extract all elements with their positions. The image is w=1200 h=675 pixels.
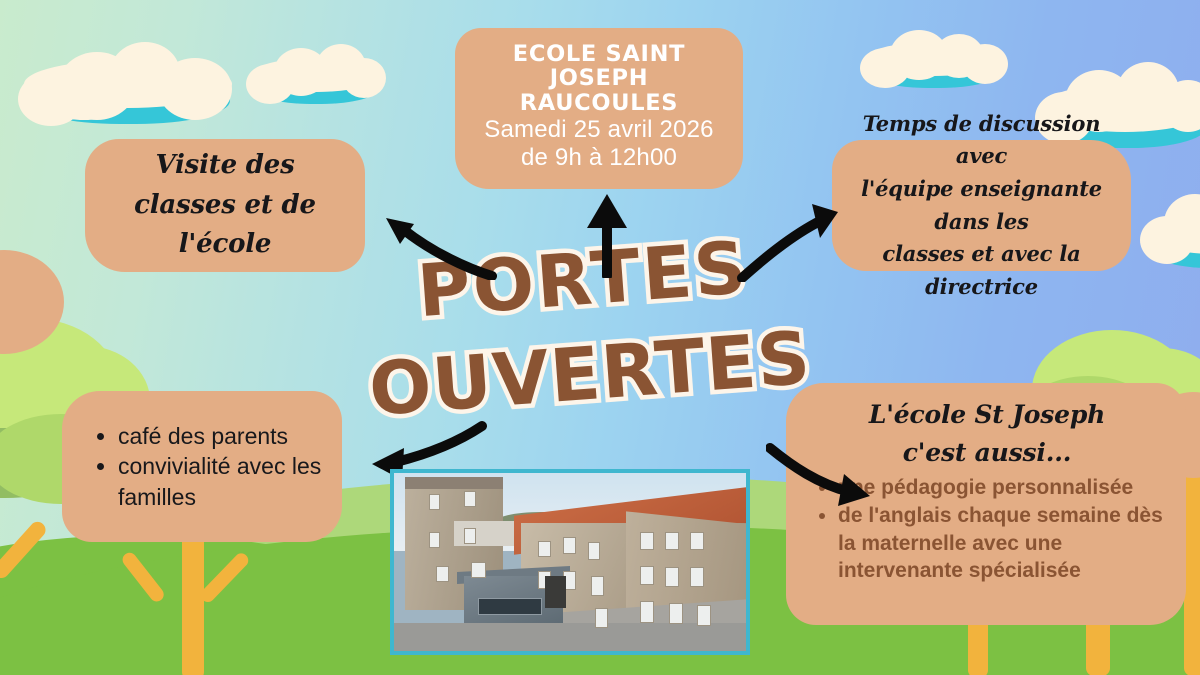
card-visite-des-classes: Visite des classes et de l'école <box>85 139 365 272</box>
event-date: Samedi 25 avril 2026 <box>484 117 713 143</box>
event-time: de 9h à 12h00 <box>521 145 677 171</box>
cloud-icon <box>1140 190 1200 268</box>
arrow-up-icon <box>575 190 639 278</box>
list-item: café des parents <box>118 421 328 452</box>
title-line-ouvertes: OUVERTES <box>353 321 827 427</box>
school-name-line1: ECOLE SAINT JOSEPH <box>465 42 733 91</box>
arrow-right-down-icon <box>766 440 876 512</box>
card-visite-line-3: l'école <box>134 225 316 265</box>
card-temps-line-1: Temps de discussion avec <box>842 108 1121 173</box>
card-plus-heading-line1: L'école St Joseph <box>802 397 1172 433</box>
card-cafe-parents: café des parents convivialité avec les f… <box>62 391 342 542</box>
card-visite-text: Visite des classes et de l'école <box>134 146 316 265</box>
card-temps-line-2: l'équipe enseignante dans les <box>842 173 1121 238</box>
school-photo <box>390 469 750 655</box>
card-visite-line-1: Visite des <box>134 146 316 186</box>
cloud-icon <box>860 28 1008 90</box>
arrow-up-right-icon <box>736 198 846 282</box>
school-name-line2: RAUCOULES <box>520 91 678 115</box>
header-card: ECOLE SAINT JOSEPH RAUCOULES Samedi 25 a… <box>455 28 743 189</box>
card-temps-text: Temps de discussion avec l'équipe enseig… <box>842 108 1121 303</box>
poster-canvas: ECOLE SAINT JOSEPH RAUCOULES Samedi 25 a… <box>0 0 1200 675</box>
card-temps-discussion: Temps de discussion avec l'équipe enseig… <box>832 140 1131 271</box>
list-item: convivialité avec les familles <box>118 451 328 512</box>
cloud-icon <box>246 44 386 106</box>
card-cafe-list: café des parents convivialité avec les f… <box>84 421 328 513</box>
list-item: une pédagogie personnalisée <box>838 474 1172 501</box>
card-visite-line-2: classes et de <box>134 186 316 226</box>
list-item: de l'anglais chaque semaine dès la mater… <box>838 502 1172 584</box>
card-temps-line-3: classes et avec la directrice <box>842 238 1121 303</box>
cloud-icon <box>18 42 238 126</box>
arrow-up-left-icon <box>370 190 500 280</box>
